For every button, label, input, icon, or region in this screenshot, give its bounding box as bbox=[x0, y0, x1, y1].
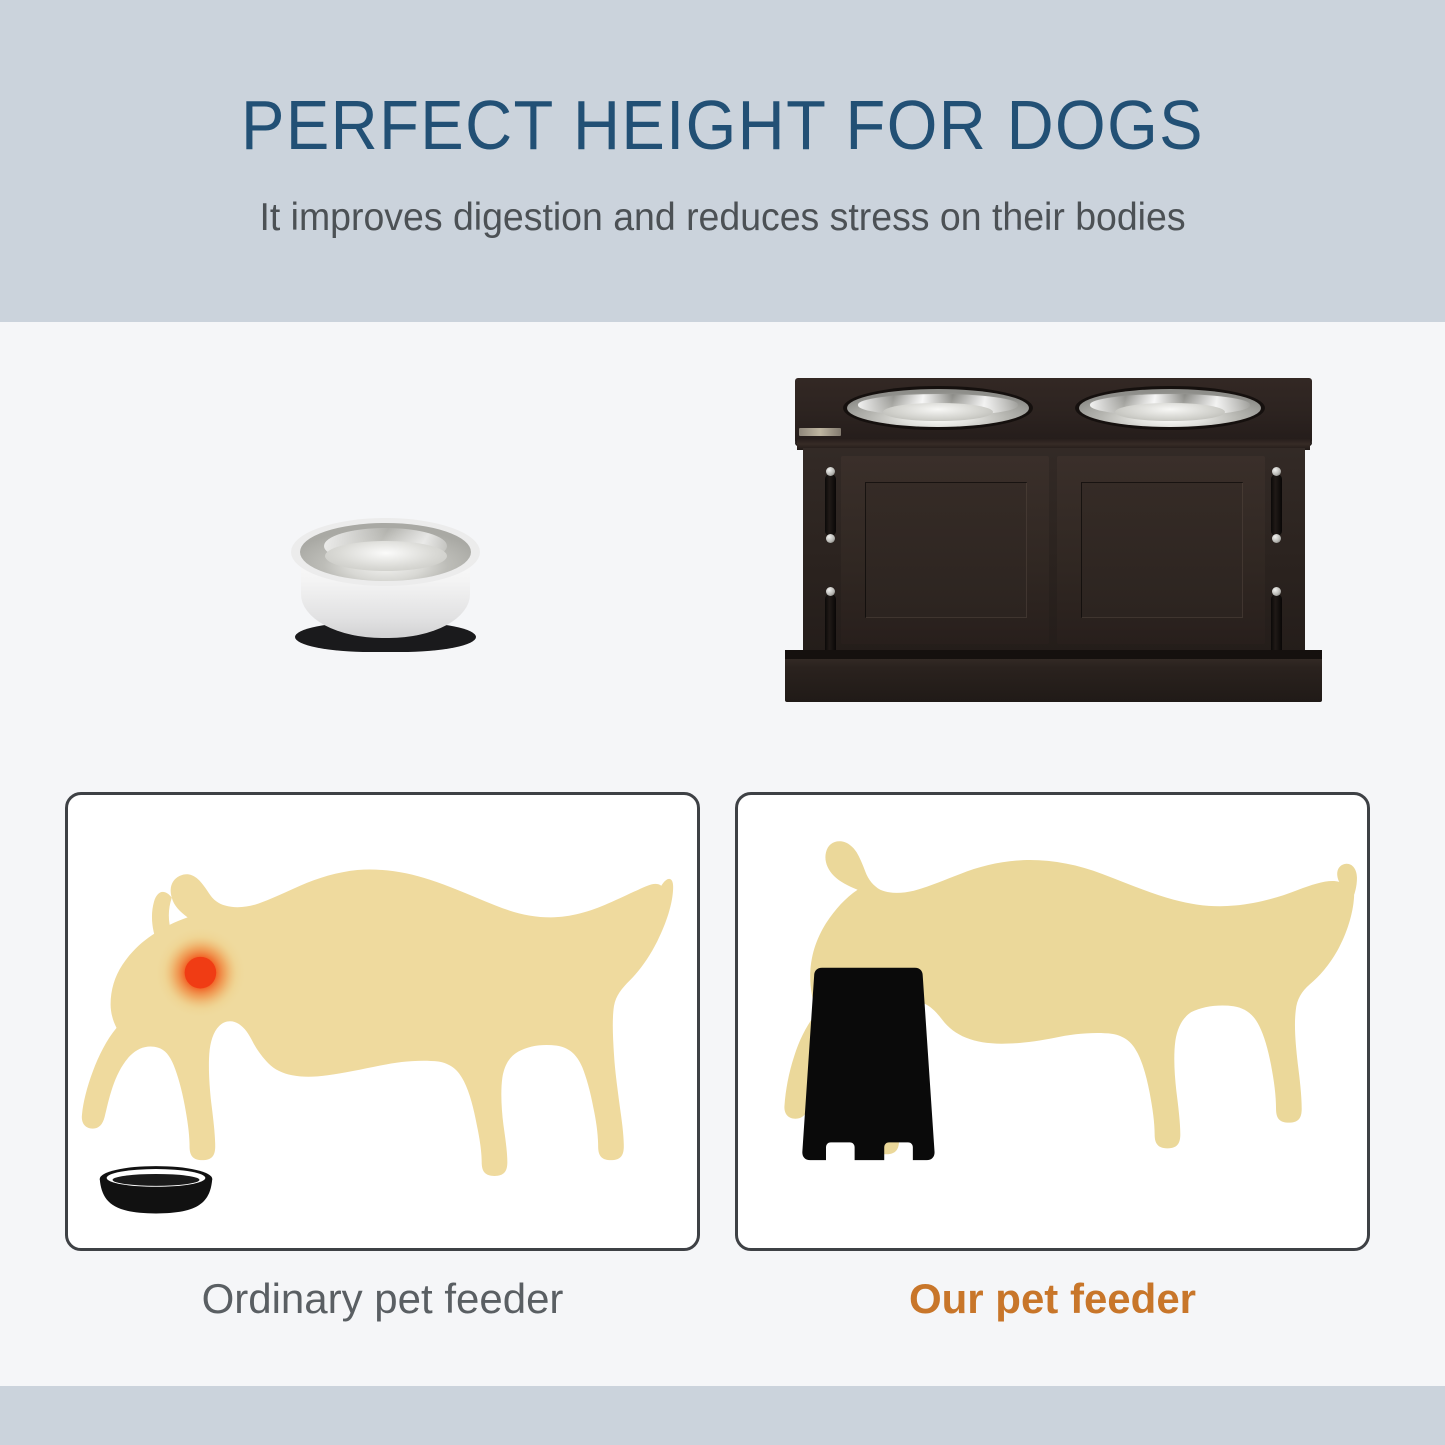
caption-our-feeder: Our pet feeder bbox=[735, 1272, 1370, 1326]
bowl-inner-well bbox=[325, 541, 447, 571]
hinge-screw-icon bbox=[1272, 467, 1281, 476]
page-subtitle: It improves digestion and reduces stress… bbox=[29, 193, 1416, 243]
hinge-screw-icon bbox=[826, 587, 835, 596]
single-pet-bowl-photo bbox=[283, 512, 488, 652]
ordinary-floor-bowl bbox=[100, 1166, 213, 1213]
ordinary-feeder-illustration bbox=[68, 795, 697, 1248]
elevated-feeder-photo bbox=[785, 378, 1322, 723]
hinge-right-bottom bbox=[1271, 594, 1282, 656]
hinge-screw-icon bbox=[826, 534, 835, 543]
comparison-card-our-feeder bbox=[735, 792, 1370, 1251]
page-title: PERFECT HEIGHT FOR DOGS bbox=[51, 86, 1395, 164]
footer-band bbox=[0, 1386, 1445, 1445]
elevated-feeder-silhouette bbox=[802, 968, 934, 1160]
header-band: PERFECT HEIGHT FOR DOGS It improves dige… bbox=[0, 0, 1445, 322]
cabinet-door-left-panel bbox=[865, 482, 1027, 618]
hinge-screw-icon bbox=[1272, 587, 1281, 596]
comparison-card-ordinary bbox=[65, 792, 700, 1251]
hinge-screw-icon bbox=[826, 467, 835, 476]
feeder-bowl-right bbox=[1079, 389, 1261, 427]
feeder-plinth-lip bbox=[785, 650, 1322, 659]
hinge-left-bottom bbox=[825, 594, 836, 656]
product-infographic-page: PERFECT HEIGHT FOR DOGS It improves dige… bbox=[0, 0, 1445, 1445]
dog-silhouette-hunched bbox=[82, 870, 673, 1176]
product-label-sticker bbox=[799, 428, 841, 436]
hinge-right-top bbox=[1271, 474, 1282, 536]
hinge-left-top bbox=[825, 474, 836, 536]
caption-ordinary-feeder: Ordinary pet feeder bbox=[65, 1272, 700, 1326]
feeder-bowl-left bbox=[847, 389, 1029, 427]
cabinet-door-left bbox=[841, 456, 1049, 644]
pain-indicator-core bbox=[185, 957, 217, 989]
cabinet-door-right bbox=[1057, 456, 1265, 644]
cabinet-door-right-panel bbox=[1081, 482, 1243, 618]
our-feeder-illustration bbox=[738, 795, 1367, 1248]
hinge-screw-icon bbox=[1272, 534, 1281, 543]
